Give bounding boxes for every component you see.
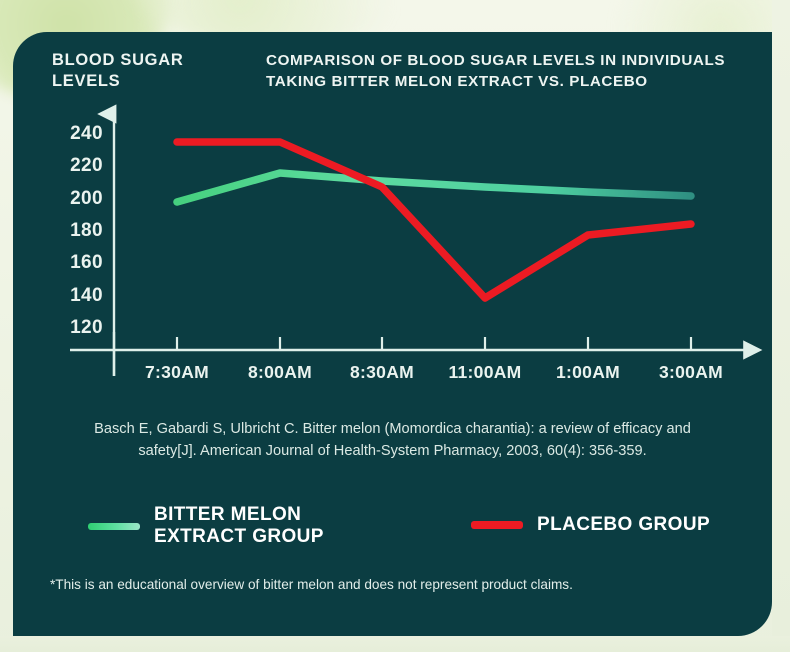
x-tick-label: 8:30AM	[350, 362, 414, 383]
x-tick-label: 3:00AM	[659, 362, 723, 383]
page-edge-bottom	[0, 636, 790, 652]
legend-item-placebo: PLACEBO GROUP	[471, 514, 710, 536]
legend-swatch-red-icon	[471, 521, 523, 529]
citation-text: Basch E, Gabardi S, Ulbricht C. Bitter m…	[75, 418, 710, 462]
legend-item-bitter-melon: BITTER MELON EXTRACT GROUP	[88, 504, 354, 548]
page-edge-right	[772, 0, 790, 652]
x-tick-label: 7:30AM	[145, 362, 209, 383]
legend-swatch-green-icon	[88, 523, 140, 530]
chart-legend: BITTER MELON EXTRACT GROUP PLACEBO GROUP	[73, 504, 733, 560]
x-tick-label: 8:00AM	[248, 362, 312, 383]
x-tick-label: 11:00AM	[448, 362, 521, 383]
legend-label-placebo: PLACEBO GROUP	[537, 514, 710, 536]
disclaimer-text: *This is an educational overview of bitt…	[50, 575, 740, 595]
legend-label-bitter-melon: BITTER MELON EXTRACT GROUP	[154, 504, 354, 548]
infographic-card: BLOOD SUGAR LEVELS COMPARISON OF BLOOD S…	[13, 32, 772, 636]
x-tick-label: 1:00AM	[556, 362, 620, 383]
